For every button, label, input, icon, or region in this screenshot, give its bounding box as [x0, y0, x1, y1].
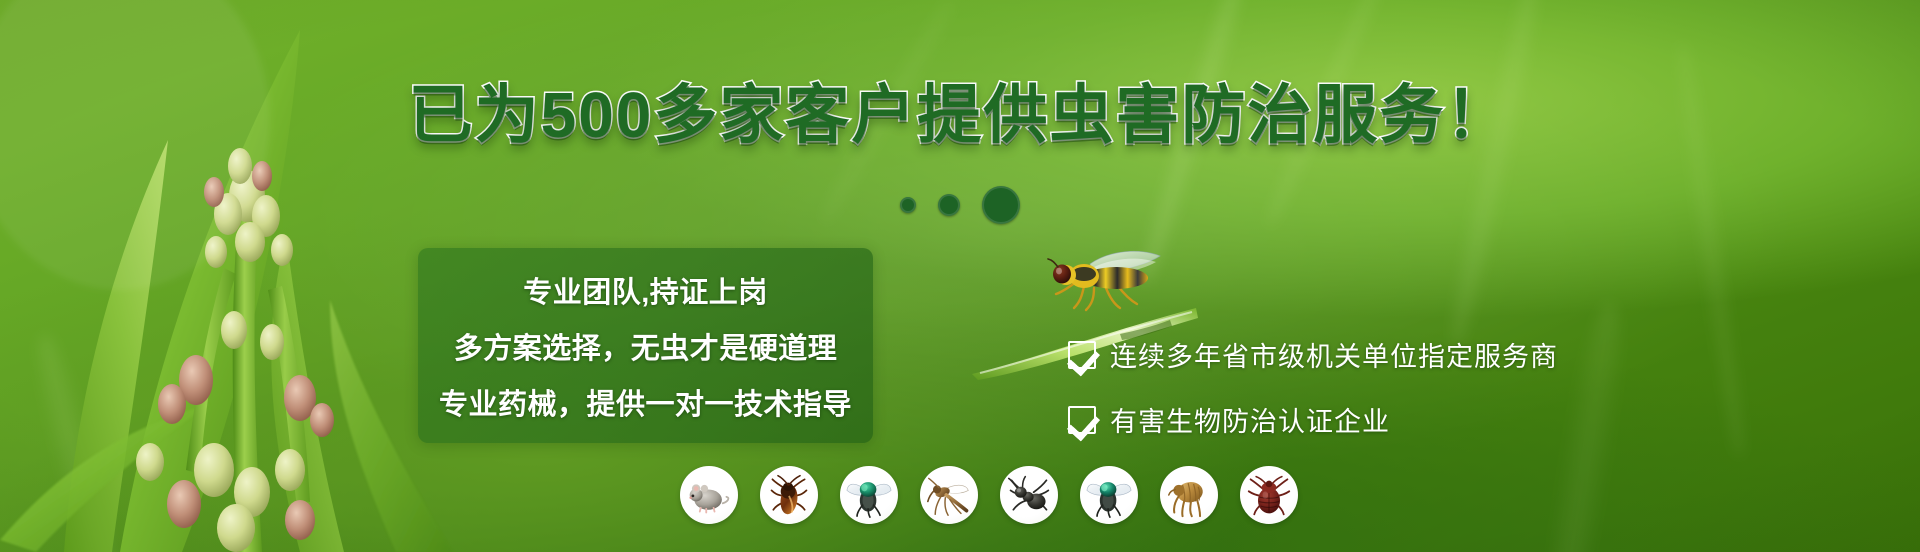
ant-icon[interactable] — [1000, 466, 1058, 524]
certification-label-2: 有害生物防治认证企业 — [1110, 400, 1390, 439]
page-title: 已为500多家客户提供虫害防治服务！ — [409, 82, 1512, 149]
certification-label-1: 连续多年省市级机关单位指定服务商 — [1110, 335, 1558, 374]
certification-list: 连续多年省市级机关单位指定服务商 有害生物防治认证企业 — [1068, 335, 1558, 439]
dot-divider — [0, 186, 1920, 224]
dot-large-icon — [982, 186, 1020, 224]
pest-icon-row — [680, 466, 1298, 524]
bedbug-icon[interactable] — [1240, 466, 1298, 524]
feature-line-2: 多方案选择，无虫才是硬道理 — [454, 325, 838, 367]
mouse-icon[interactable] — [680, 466, 738, 524]
list-item: 连续多年省市级机关单位指定服务商 — [1068, 335, 1558, 374]
checkmark-icon — [1068, 341, 1096, 369]
blowfly-icon[interactable] — [1080, 466, 1138, 524]
feature-line-3: 专业药械，提供一对一技术指导 — [439, 381, 852, 423]
dot-small-icon — [900, 197, 916, 213]
dot-medium-icon — [938, 194, 960, 216]
features-panel: 专业团队,持证上岗 多方案选择，无虫才是硬道理 专业药械，提供一对一技术指导 — [418, 248, 873, 443]
checkmark-icon — [1068, 406, 1096, 434]
list-item: 有害生物防治认证企业 — [1068, 400, 1558, 439]
cockroach-icon[interactable] — [760, 466, 818, 524]
flea-icon[interactable] — [1160, 466, 1218, 524]
headline-container: 已为500多家客户提供虫害防治服务！ — [0, 82, 1920, 149]
mosquito-icon[interactable] — [920, 466, 978, 524]
fly-icon[interactable] — [840, 466, 898, 524]
promo-banner: 已为500多家客户提供虫害防治服务！ 专业团队,持证上岗 多方案选择，无虫才是硬… — [0, 0, 1920, 552]
hoverfly-illustration — [1040, 248, 1170, 318]
feature-line-1: 专业团队,持证上岗 — [523, 269, 768, 311]
